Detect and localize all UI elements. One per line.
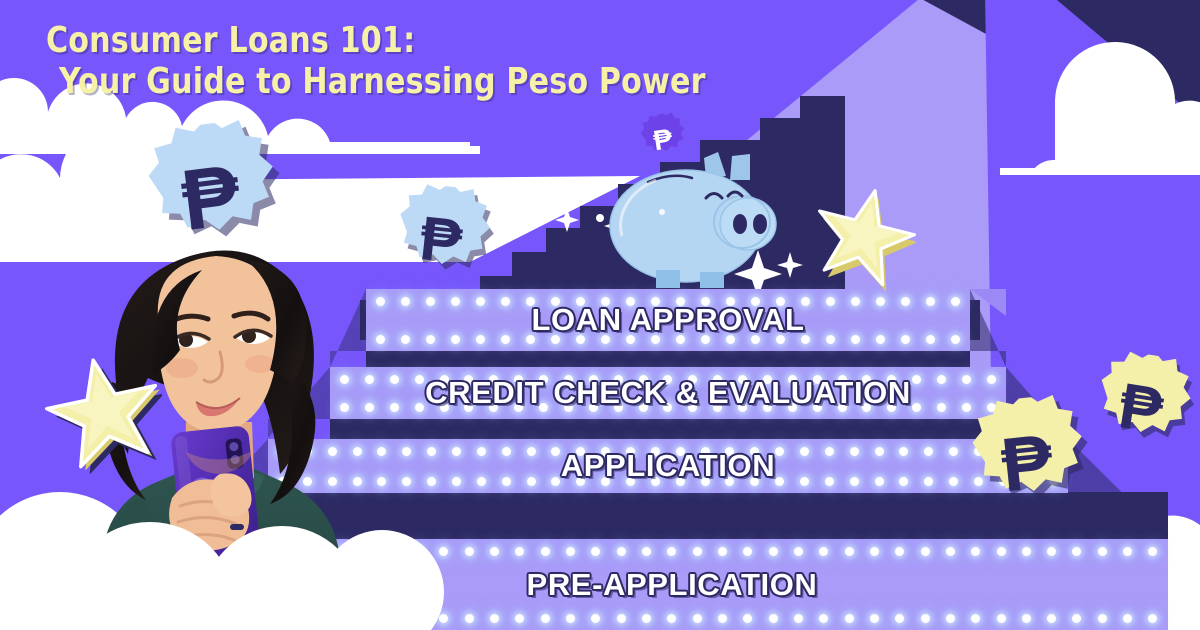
marquee-dot [851,297,860,306]
marquee-dot [718,547,727,556]
marquee-dot [901,297,910,306]
marquee-dot [901,335,910,344]
peso-coin-icon: ₱ [1078,346,1200,470]
navy-band-step1 [366,351,970,368]
marquee-dot [819,547,828,556]
marquee-dot [1072,614,1081,623]
marquee-dot [551,477,560,486]
marquee-dot [850,477,859,486]
marquee-dot [921,547,930,556]
marquee-dot [937,403,946,412]
marquee-dot [617,547,626,556]
marquee-dot [826,297,835,306]
marquee-dot [825,447,834,456]
marquee-dot [414,547,423,556]
marquee-dot [949,447,958,456]
marquee-dot [477,447,486,456]
marquee-dot [819,614,828,623]
marquee-dot [427,447,436,456]
step-application[interactable]: APPLICATION [268,439,1068,493]
marquee-dot [949,477,958,486]
marquee-dot [825,477,834,486]
marquee-dot [912,403,921,412]
marquee-dot [851,335,860,344]
marquee-dot [951,297,960,306]
coin-body [968,391,1087,496]
marquee-dot [365,403,374,412]
marquee-dot [769,614,778,623]
piggy-nostril-1 [733,214,747,234]
marquee-dot [426,297,435,306]
step-label: APPLICATION [561,448,775,484]
cheek-blush [166,358,198,378]
marquee-dot [390,403,399,412]
marquee-dot [1098,547,1107,556]
marquee-dot [971,614,980,623]
ring [230,524,244,530]
marquee-dot [401,335,410,344]
marquee-dot [1123,614,1132,623]
marquee-dot [924,447,933,456]
marquee-dot [693,614,702,623]
marquee-dot [376,335,385,344]
marquee-dot [1098,614,1107,623]
step-label: LOAN APPROVAL [531,302,804,338]
marquee-dot [591,547,600,556]
title-line-2: Your Guide to Harnessing Peso Power [59,63,706,101]
marquee-dot [870,614,879,623]
marquee-dot [875,477,884,486]
marquee-dot [667,614,676,623]
marquee-dot [971,547,980,556]
marquee-dot [1022,547,1031,556]
marquee-dot [376,297,385,306]
step-credit-check[interactable]: CREDIT CHECK & EVALUATION [330,367,1006,419]
step-label: CREDIT CHECK & EVALUATION [425,375,911,411]
marquee-dot [452,477,461,486]
marquee-dot [667,547,676,556]
marquee-dot [515,547,524,556]
marquee-dot [389,614,398,623]
marquee-dot [377,447,386,456]
marquee-dot [477,477,486,486]
marquee-dot [502,447,511,456]
piggy-nostril-2 [753,214,767,234]
marquee-dot [541,547,550,556]
marquee-dot [439,614,448,623]
marquee-dot [870,547,879,556]
marquee-dot [390,375,399,384]
marquee-dot [718,614,727,623]
marquee-dot [769,547,778,556]
piggy-leg-2 [700,272,724,288]
marquee-dot [1148,614,1157,623]
marquee-dot [426,335,435,344]
marquee-dot [876,335,885,344]
marquee-dot [845,547,854,556]
marquee-dot [365,375,374,384]
navy-band-step2 [330,419,1006,440]
marquee-dot [402,477,411,486]
cheek-blush-2 [245,355,275,373]
marquee-dot [527,477,536,486]
marquee-dot [414,614,423,623]
marquee-dot [451,297,460,306]
infographic-banner: Consumer Loans 101: Your Guide to Harnes… [0,0,1200,630]
marquee-dot [452,447,461,456]
marquee-dot [997,614,1006,623]
marquee-dot [743,547,752,556]
piggy-ear-front [730,154,750,180]
piggy-shine [659,209,665,215]
marquee-dot [465,547,474,556]
marquee-dot [743,614,752,623]
marquee-dot [946,547,955,556]
step-label: PRE-APPLICATION [527,567,818,603]
marquee-dot [566,547,575,556]
marquee-dot [402,447,411,456]
coin-body [638,110,687,154]
marquee-dot [389,547,398,556]
marquee-dot [642,614,651,623]
marquee-dot [490,547,499,556]
marquee-dot [895,547,904,556]
marquee-dot [850,447,859,456]
marquee-dot [775,477,784,486]
marquee-dot [1148,547,1157,556]
marquee-dot [794,547,803,556]
marquee-dot [800,447,809,456]
marquee-dot [551,447,560,456]
piggy-leg-1 [656,270,680,288]
marquee-dot [775,447,784,456]
marquee-dot [541,614,550,623]
marquee-dot [924,477,933,486]
piggy-bank-icon [600,140,790,300]
peso-coin-icon: ₱ [381,181,502,300]
marquee-dot [1022,614,1031,623]
marquee-dot [921,614,930,623]
marquee-dot [876,297,885,306]
marquee-dot [845,614,854,623]
marquee-dot [566,614,575,623]
marquee-dot [501,297,510,306]
marquee-dot [962,375,971,384]
title-line-1: Consumer Loans 101: [46,22,706,60]
marquee-dot [591,614,600,623]
marquee-dot [951,335,960,344]
star-icon [33,341,175,481]
marquee-dot [693,547,702,556]
marquee-dot [895,614,904,623]
marquee-dot [912,375,921,384]
marquee-dot [427,477,436,486]
marquee-dot [926,335,935,344]
marquee-dot [826,335,835,344]
marquee-dot [946,614,955,623]
marquee-dot [1123,547,1132,556]
marquee-dot [800,477,809,486]
marquee-dot [987,375,996,384]
marquee-dot [899,447,908,456]
marquee-dot [1072,547,1081,556]
marquee-dot [377,477,386,486]
marquee-dot [1047,547,1056,556]
marquee-dot [527,447,536,456]
marquee-dot [401,297,410,306]
marquee-dot [642,547,651,556]
marquee-dot [997,547,1006,556]
marquee-dot [926,297,935,306]
marquee-dot [515,614,524,623]
marquee-dot [465,614,474,623]
marquee-dot [476,335,485,344]
marquee-dot [490,614,499,623]
marquee-dot [617,614,626,623]
marquee-dot [937,375,946,384]
piggy-snout [720,198,776,250]
page-title: Consumer Loans 101: Your Guide to Harnes… [46,22,706,101]
peso-coin-icon: ₱ [955,391,1100,534]
marquee-dot [1047,614,1056,623]
marquee-dot [899,477,908,486]
marquee-dot [875,447,884,456]
marquee-dot [502,477,511,486]
marquee-dot [451,335,460,344]
marquee-dot [415,403,424,412]
marquee-dot [439,547,448,556]
marquee-dot [415,375,424,384]
peso-coin-icon: ₱ [633,110,692,169]
marquee-dot [501,335,510,344]
marquee-dot [794,614,803,623]
